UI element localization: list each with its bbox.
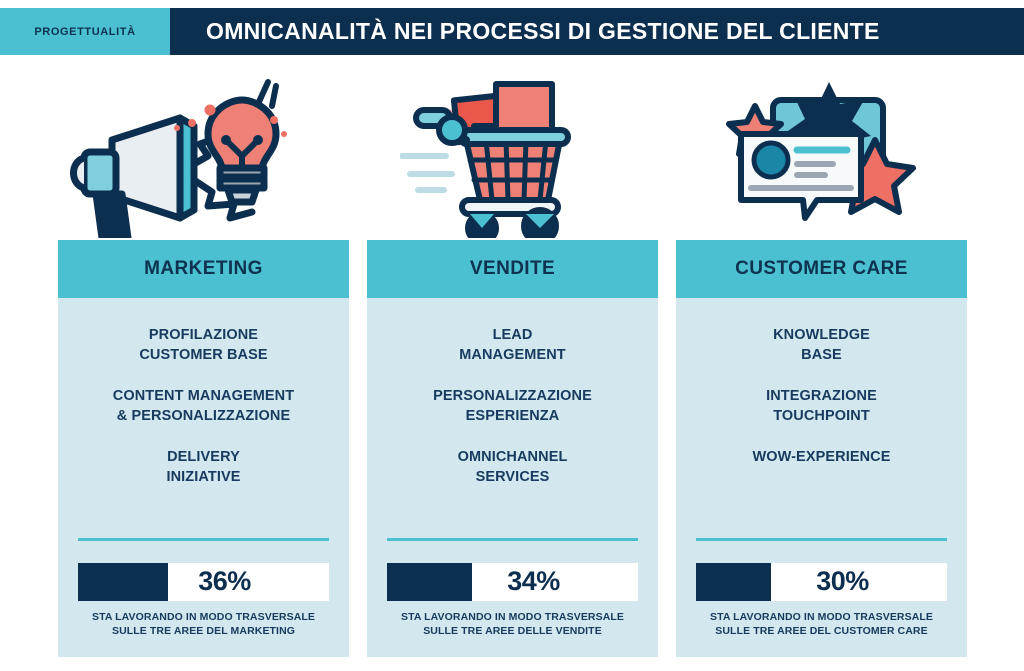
list-item: PERSONALIZZAZIONEESPERIENZA (433, 387, 592, 426)
column-customer-care: CUSTOMER CARE KNOWLEDGEBASE INTEGRAZIONE… (676, 240, 967, 657)
list-item: WOW-EXPERIENCE (752, 448, 890, 468)
megaphone-lightbulb-icon (62, 78, 292, 243)
list-item: KNOWLEDGEBASE (773, 326, 870, 365)
column-body-vendite: LEADMANAGEMENT PERSONALIZZAZIONEESPERIEN… (367, 298, 658, 538)
list-item: DELIVERYINIZIATIVE (166, 448, 240, 487)
list-item: INTEGRAZIONETOUCHPOINT (766, 387, 877, 426)
infographic-page: PROGETTUALITÀ OMNICANALITÀ NEI PROCESSI … (0, 0, 1024, 671)
column-header-vendite: VENDITE (367, 240, 658, 298)
shopping-cart-icon (400, 78, 600, 243)
chat-bubbles-stars-icon (725, 78, 925, 238)
column-marketing: MARKETING PROFILAZIONECUSTOMER BASE CONT… (58, 240, 349, 657)
page-header: PROGETTUALITÀ OMNICANALITÀ NEI PROCESSI … (0, 8, 1024, 55)
columns-container: MARKETING PROFILAZIONECUSTOMER BASE CONT… (58, 240, 967, 657)
column-header-customer-care: CUSTOMER CARE (676, 240, 967, 298)
progress-bar-caption: STA LAVORANDO IN MODO TRASVERSALESULLE T… (696, 610, 947, 639)
header-category-tag: PROGETTUALITÀ (0, 8, 170, 55)
column-vendite: VENDITE LEADMANAGEMENT PERSONALIZZAZIONE… (367, 240, 658, 657)
progress-bar-value: 30% (696, 566, 947, 597)
column-body-customer-care: KNOWLEDGEBASE INTEGRAZIONETOUCHPOINT WOW… (676, 298, 967, 538)
column-stats-customer-care: 30% STA LAVORANDO IN MODO TRASVERSALESUL… (676, 538, 967, 657)
list-item: CONTENT MANAGEMENT& PERSONALIZZAZIONE (113, 387, 294, 426)
progress-bar-value: 34% (387, 566, 638, 597)
list-item: OMNICHANNELSERVICES (458, 448, 568, 487)
progress-bar-value: 36% (78, 566, 329, 597)
column-header-marketing: MARKETING (58, 240, 349, 298)
divider (696, 538, 947, 541)
column-stats-vendite: 34% STA LAVORANDO IN MODO TRASVERSALESUL… (367, 538, 658, 657)
column-body-marketing: PROFILAZIONECUSTOMER BASE CONTENT MANAGE… (58, 298, 349, 538)
progress-bar-marketing: 36% (78, 563, 329, 601)
column-stats-marketing: 36% STA LAVORANDO IN MODO TRASVERSALESUL… (58, 538, 349, 657)
progress-bar-customer-care: 30% (696, 563, 947, 601)
column-title-vendite: VENDITE (470, 258, 555, 280)
divider (387, 538, 638, 541)
page-title: OMNICANALITÀ NEI PROCESSI DI GESTIONE DE… (206, 18, 880, 45)
progress-bar-vendite: 34% (387, 563, 638, 601)
divider (78, 538, 329, 541)
list-item: PROFILAZIONECUSTOMER BASE (139, 326, 267, 365)
header-title-bar: OMNICANALITÀ NEI PROCESSI DI GESTIONE DE… (170, 8, 1024, 55)
column-title-marketing: MARKETING (144, 258, 263, 280)
column-title-customer-care: CUSTOMER CARE (735, 258, 908, 280)
header-category-label: PROGETTUALITÀ (34, 26, 135, 38)
list-item: LEADMANAGEMENT (459, 326, 566, 365)
progress-bar-caption: STA LAVORANDO IN MODO TRASVERSALESULLE T… (78, 610, 329, 639)
progress-bar-caption: STA LAVORANDO IN MODO TRASVERSALESULLE T… (387, 610, 638, 639)
